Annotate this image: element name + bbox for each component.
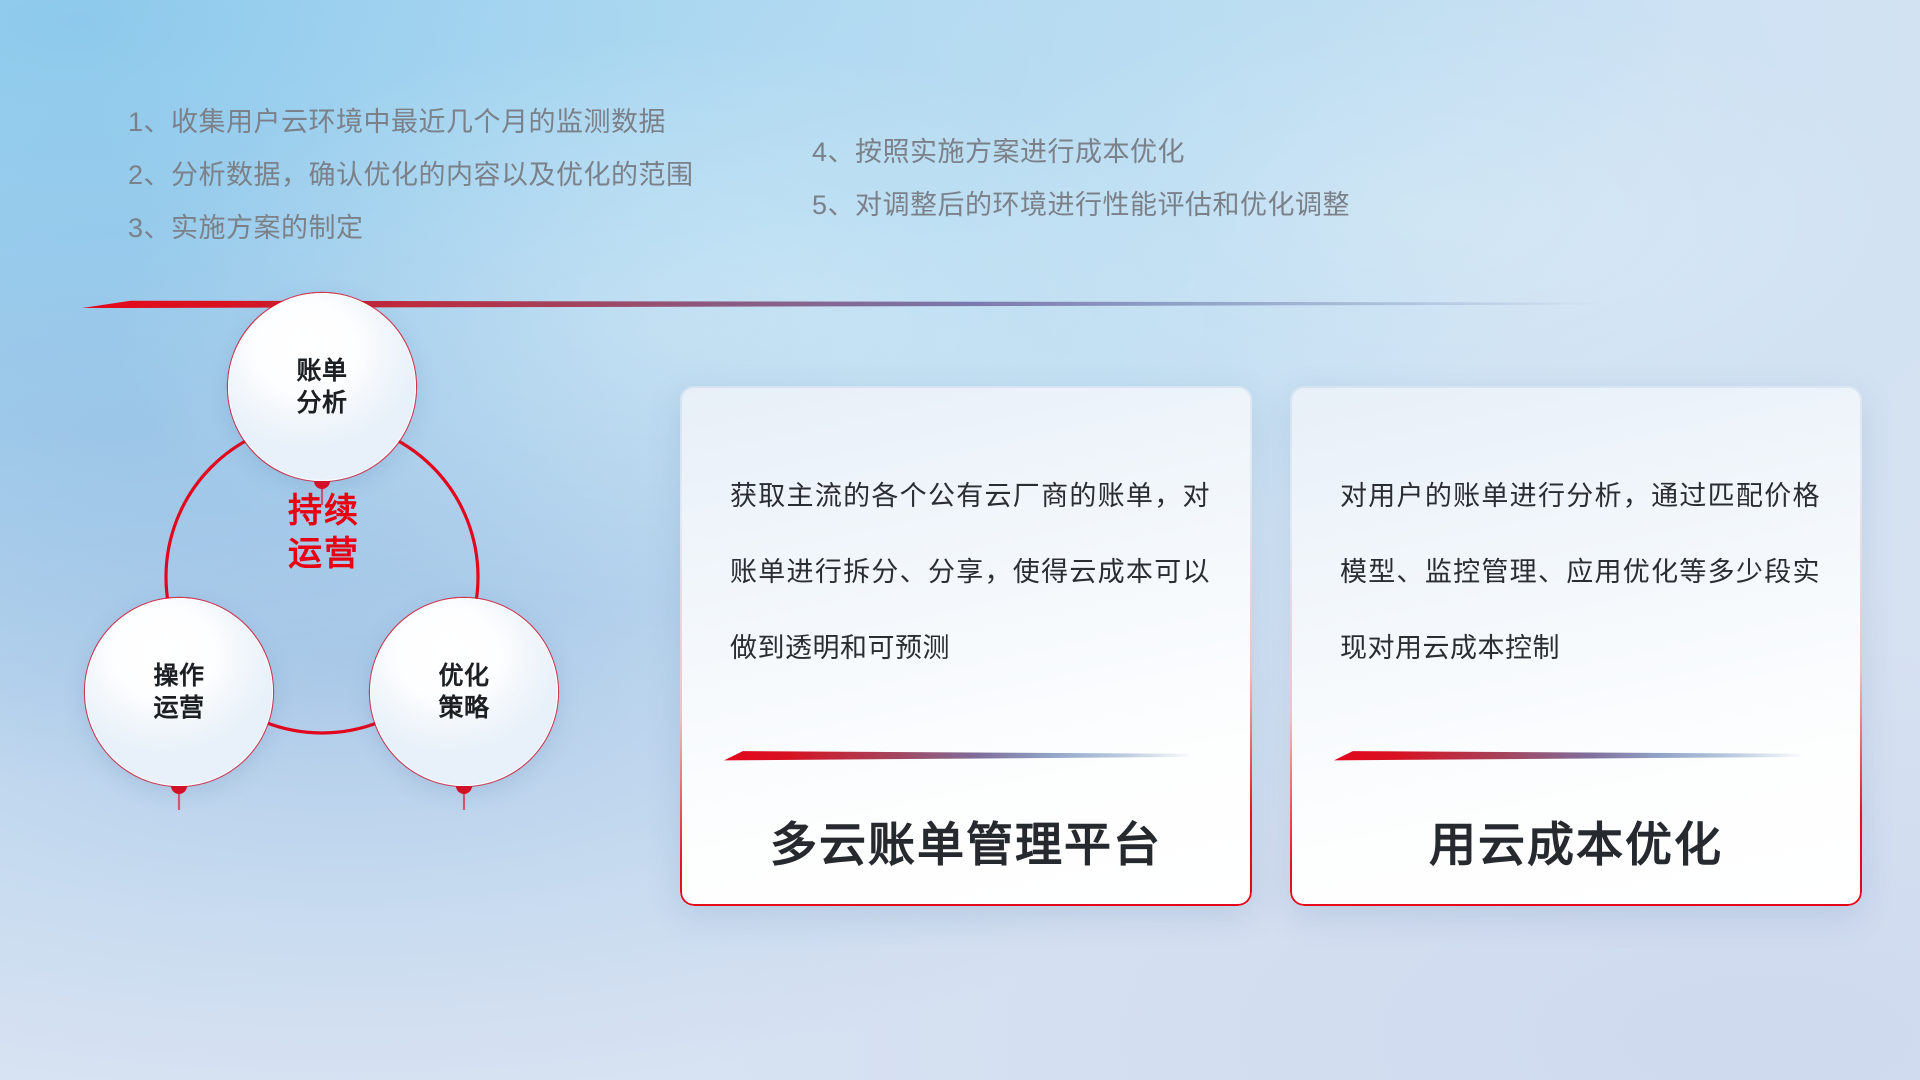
diagram-bubble-operations[interactable]: 操作 运营 [85,598,273,786]
diagram-bubble-bill-analysis[interactable]: 账单 分析 [228,293,416,481]
step-item-3: 3、实施方案的制定 [128,202,694,255]
card-rule-wedge [1334,749,1804,761]
bubble-label-line2: 运营 [153,692,204,725]
card-rule-wedge [724,749,1194,761]
bubble-label-line1: 操作 [153,660,204,693]
center-label-line2: 运营 [244,533,404,576]
card-accent-rule [1334,749,1804,761]
steps-left-column: 1、收集用户云环境中最近几个月的监测数据 2、分析数据，确认优化的内容以及优化的… [128,96,694,255]
step-item-2: 2、分析数据，确认优化的内容以及优化的范围 [128,149,694,202]
step-item-5: 5、对调整后的环境进行性能评估和优化调整 [812,179,1350,232]
step-item-4: 4、按照实施方案进行成本优化 [812,126,1350,179]
diagram-center-label: 持续 运营 [244,490,404,575]
card-multi-cloud-bill-platform[interactable]: 获取主流的各个公有云厂商的账单，对账单进行拆分、分享，使得云成本可以做到透明和可… [680,386,1252,906]
bubble-label-line2: 分析 [296,387,347,420]
step-item-1: 1、收集用户云环境中最近几个月的监测数据 [128,96,694,149]
diagram-bubble-optimization[interactable]: 优化 策略 [370,598,558,786]
card-cloud-cost-optimization[interactable]: 对用户的账单进行分析，通过匹配价格模型、监控管理、应用优化等多少段实现对用云成本… [1290,386,1862,906]
card-title: 多云账单管理平台 [680,806,1252,875]
card-body-text: 对用户的账单进行分析，通过匹配价格模型、监控管理、应用优化等多少段实现对用云成本… [1340,458,1820,686]
continuous-operation-diagram: 账单 分析 操作 运营 优化 策略 持续 运营 [80,355,640,955]
bubble-label-line1: 优化 [438,660,489,693]
center-label-line1: 持续 [244,490,404,533]
card-title: 用云成本优化 [1290,806,1862,875]
bubble-label-line2: 策略 [438,692,489,725]
card-accent-rule [724,749,1194,761]
card-body-text: 获取主流的各个公有云厂商的账单，对账单进行拆分、分享，使得云成本可以做到透明和可… [730,458,1210,686]
steps-right-column: 4、按照实施方案进行成本优化 5、对调整后的环境进行性能评估和优化调整 [812,126,1350,232]
bubble-label-line1: 账单 [296,355,347,388]
